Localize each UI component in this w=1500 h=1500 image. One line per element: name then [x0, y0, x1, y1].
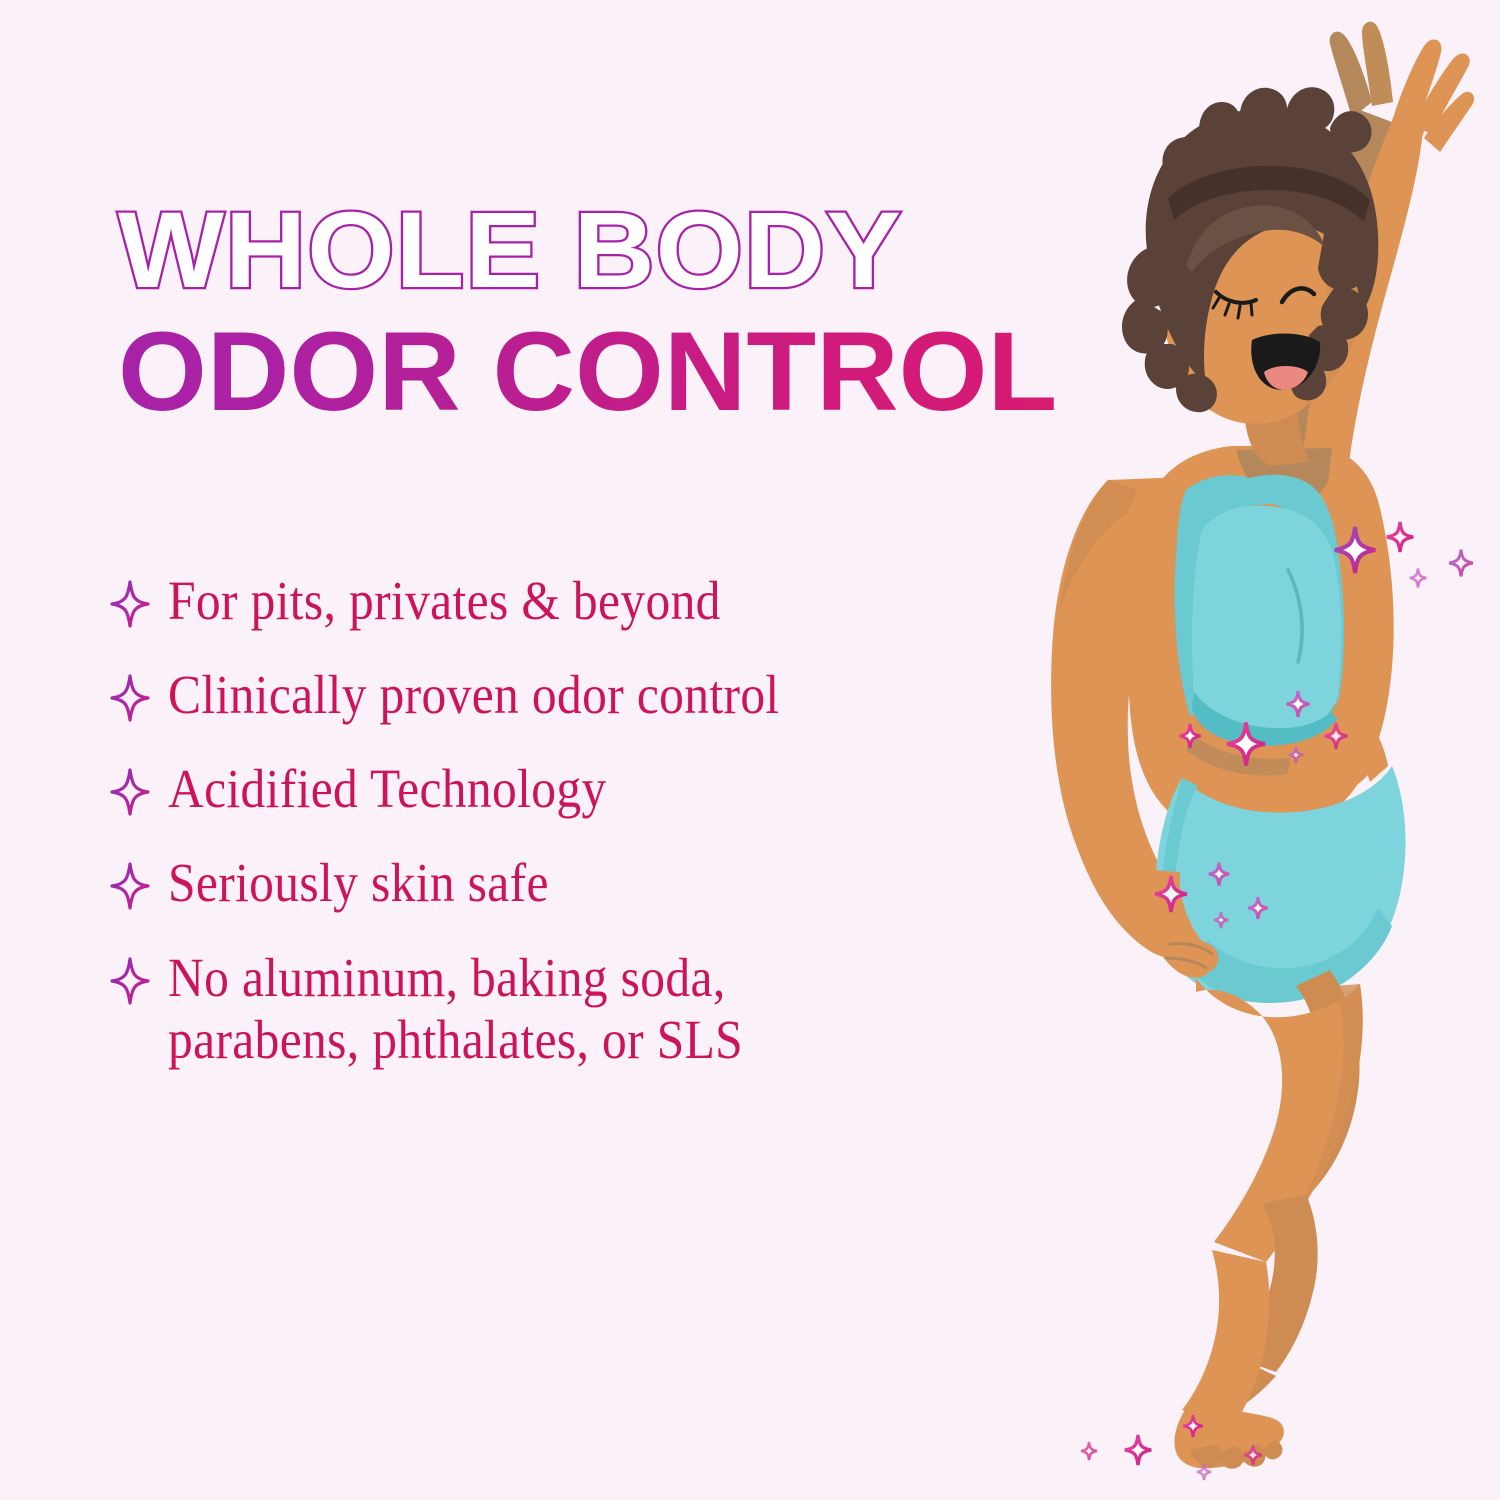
- list-item: No aluminum, baking soda, parabens, phth…: [110, 947, 1060, 1071]
- headline-block: WHOLE BODY ODOR CONTROL: [118, 196, 1078, 430]
- headline-line-odor-control: ODOR CONTROL: [118, 314, 1097, 430]
- list-item: Clinically proven odor control: [110, 664, 1060, 726]
- list-item-label: For pits, privates & beyond: [168, 570, 721, 632]
- crop-top-body: [1192, 506, 1341, 738]
- sparkle-icon: [1387, 522, 1413, 552]
- sparkle-star-icon: [110, 768, 154, 820]
- list-item: For pits, privates & beyond: [110, 570, 1060, 632]
- headline-line-whole-body: WHOLE BODY: [118, 196, 1116, 304]
- sparkle-icon: [1410, 569, 1427, 588]
- hair-curl-top-4: [1330, 111, 1372, 152]
- hair-curl-top-1: [1199, 102, 1240, 144]
- sparkle-icon: [1449, 550, 1473, 577]
- sparkle-star-icon: [110, 674, 154, 726]
- list-item-label: Acidified Technology: [168, 758, 607, 820]
- marketing-graphic-canvas: WHOLE BODY ODOR CONTROL For pits, privat…: [0, 0, 1500, 1500]
- sparkle-icon: [1125, 1435, 1151, 1465]
- eyelash-3: [1238, 306, 1240, 318]
- feature-bullet-list: For pits, privates & beyond Clinically p…: [110, 570, 1060, 1103]
- list-item-label: No aluminum, baking soda, parabens, phth…: [168, 947, 743, 1071]
- sparkle-icon: [1081, 1442, 1097, 1460]
- list-item-label: Seriously skin safe: [168, 852, 549, 914]
- eyelash-4: [1251, 303, 1252, 315]
- list-item: Acidified Technology: [110, 758, 1060, 820]
- sparkle-star-icon: [110, 957, 154, 1009]
- list-item-label: Clinically proven odor control: [168, 664, 780, 726]
- illustration-smiling-woman: [1000, 10, 1500, 1500]
- sparkle-star-icon: [110, 580, 154, 632]
- hair-curl-top-5: [1162, 137, 1206, 178]
- front-calf: [1182, 1250, 1269, 1428]
- list-item: Seriously skin safe: [110, 852, 1060, 914]
- sparkle-star-icon: [110, 862, 154, 914]
